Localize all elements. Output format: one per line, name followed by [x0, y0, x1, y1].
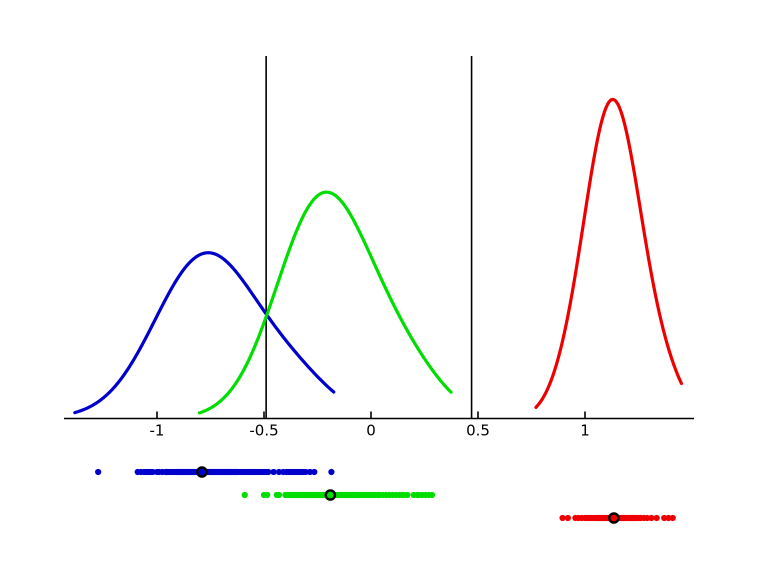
- strip-point: [429, 492, 435, 498]
- x-axis-tick-label: -1: [150, 422, 165, 440]
- strip-point: [670, 515, 676, 521]
- x-axis-tick-label: 0: [366, 422, 376, 440]
- x-axis-tick-label: -0.5: [249, 422, 278, 440]
- strip-point: [242, 492, 248, 498]
- strip-point: [276, 492, 282, 498]
- strip-point: [328, 469, 334, 475]
- x-axis-tick-label: 0.5: [466, 422, 490, 440]
- strip-point: [654, 515, 660, 521]
- strip-point: [559, 515, 565, 521]
- strip-point: [271, 469, 277, 475]
- strip-mean-marker: [609, 513, 618, 522]
- strip-point: [264, 492, 270, 498]
- strip-point: [565, 515, 571, 521]
- strip-mean-marker: [197, 467, 206, 476]
- strip-point: [311, 469, 317, 475]
- x-axis-tick-label: 1: [580, 422, 590, 440]
- strip-point: [265, 469, 271, 475]
- density-plot-figure: -1-0.500.51: [0, 0, 768, 576]
- strip-point: [95, 469, 101, 475]
- strip-point: [648, 515, 654, 521]
- chart-canvas: -1-0.500.51: [0, 0, 768, 576]
- strip-mean-marker: [326, 490, 335, 499]
- strip-point: [404, 492, 410, 498]
